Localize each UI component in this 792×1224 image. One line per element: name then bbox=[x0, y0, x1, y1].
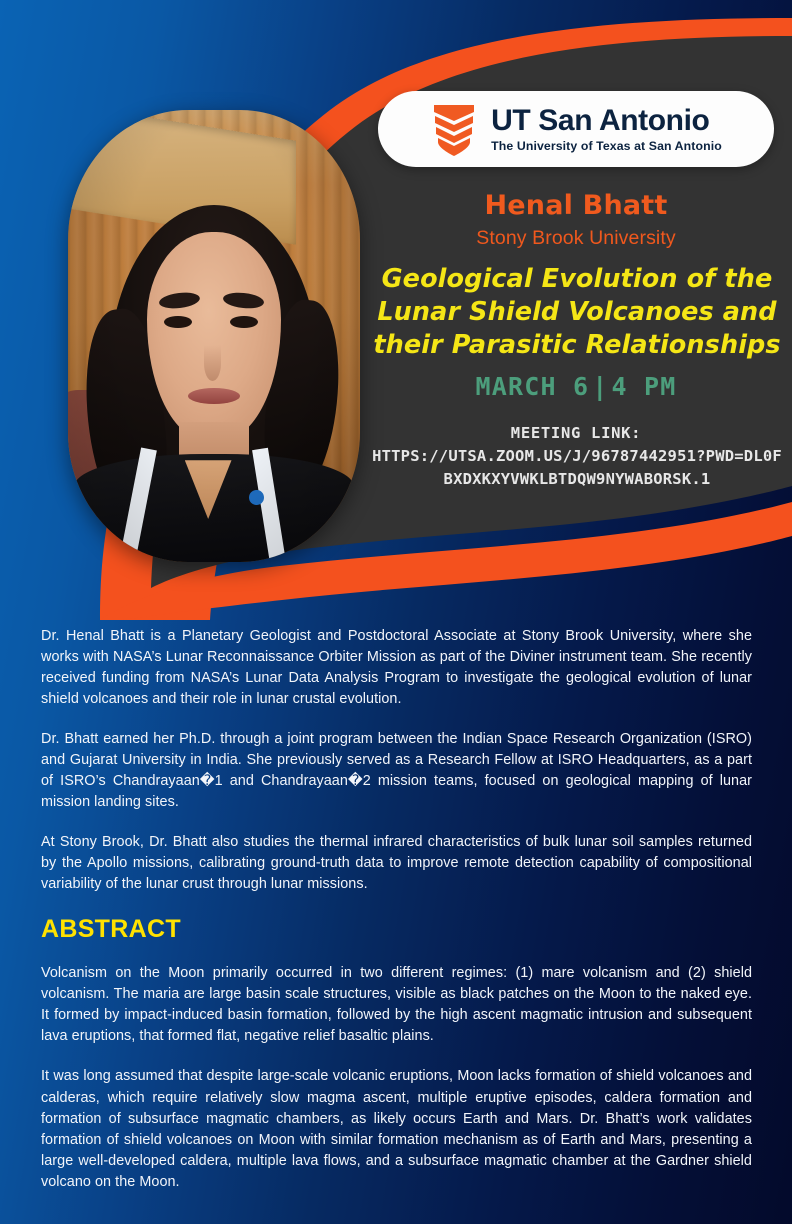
event-date: MARCH 6 bbox=[475, 372, 589, 401]
bio-paragraph-3: At Stony Brook, Dr. Bhatt also studies t… bbox=[41, 832, 752, 895]
speaker-portrait bbox=[68, 110, 360, 562]
speaker-affiliation: Stony Brook University bbox=[378, 227, 774, 250]
utsa-tagline: The University of Texas at San Antonio bbox=[491, 140, 722, 152]
meeting-link-url[interactable]: HTTPS://UTSA.ZOOM.US/J/96787442951?PWD=D… bbox=[370, 445, 784, 491]
abstract-paragraph-2: It was long assumed that despite large-s… bbox=[41, 1066, 752, 1192]
abstract-heading: ABSTRACT bbox=[41, 915, 752, 944]
meeting-link-label: MEETING LINK: bbox=[378, 424, 774, 442]
bio-paragraph-2: Dr. Bhatt earned her Ph.D. through a joi… bbox=[41, 729, 752, 813]
body-content: Dr. Henal Bhatt is a Planetary Geologist… bbox=[41, 626, 752, 1212]
talk-title: Geological Evolution of the Lunar Shield… bbox=[370, 263, 784, 362]
speaker-name: Henal Bhatt bbox=[378, 190, 774, 221]
abstract-paragraph-1: Volcanism on the Moon primarily occurred… bbox=[41, 963, 752, 1047]
utsa-logo-text: UT San Antonio The University of Texas a… bbox=[491, 106, 722, 152]
utsa-wordmark: UT San Antonio bbox=[491, 106, 709, 136]
utsa-shield-icon bbox=[430, 101, 478, 157]
date-time-row: MARCH 6|4 PM bbox=[378, 372, 774, 401]
portrait-vignette bbox=[68, 110, 360, 562]
date-time-separator: | bbox=[589, 372, 611, 401]
utsa-logo-pill: UT San Antonio The University of Texas a… bbox=[378, 91, 774, 167]
bio-paragraph-1: Dr. Henal Bhatt is a Planetary Geologist… bbox=[41, 626, 752, 710]
event-time: 4 PM bbox=[612, 372, 677, 401]
seminar-poster: UT San Antonio The University of Texas a… bbox=[0, 0, 792, 1224]
